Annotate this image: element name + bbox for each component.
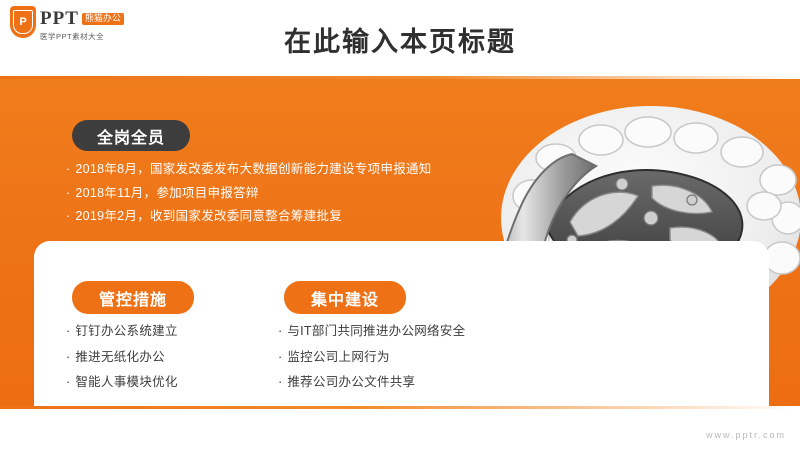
- list-item-text: 钉钉办公系统建立: [75, 324, 177, 340]
- section-badge-guankongcuoshi[interactable]: 管控措施: [72, 281, 194, 314]
- list-item-text: 智能人事模块优化: [75, 375, 177, 391]
- bullet-list-guankongcuoshi: · 钉钉办公系统建立 · 推进无纸化办公 · 智能人事模块优化: [66, 324, 266, 401]
- list-item: · 与IT部门共同推进办公网络安全: [278, 324, 538, 340]
- section-badge-jizhongjianshe[interactable]: 集中建设: [284, 281, 406, 314]
- bullet-marker: ·: [66, 186, 70, 199]
- list-item: · 2018年11月，参加项目申报答辩: [66, 186, 526, 202]
- slide-root: P PPT 熊猫办公 医学PPT素材大全 在此输入本页标题: [0, 0, 800, 450]
- bullet-marker: ·: [278, 350, 282, 363]
- list-item: · 推荐公司办公文件共享: [278, 375, 538, 391]
- bullet-marker: ·: [66, 375, 70, 388]
- footer-divider: [0, 406, 800, 409]
- list-item-text: 推进无纸化办公: [75, 350, 165, 366]
- list-item: · 2019年2月，收到国家发改委同意整合筹建批复: [66, 209, 526, 225]
- list-item-text: 推荐公司办公文件共享: [287, 375, 415, 391]
- bullet-marker: ·: [66, 209, 70, 222]
- list-item: · 监控公司上网行为: [278, 350, 538, 366]
- bullet-list-quangangquanyuan: · 2018年8月，国家发改委发布大数据创新能力建设专项申报通知 · 2018年…: [66, 162, 526, 233]
- footer-url: www.pptr.com: [706, 430, 786, 440]
- list-item: · 推进无纸化办公: [66, 350, 266, 366]
- list-item-text: 2018年11月，参加项目申报答辩: [75, 186, 258, 202]
- section-badge-quangangquanyuan[interactable]: 全岗全员: [72, 120, 190, 151]
- bullet-marker: ·: [66, 162, 70, 175]
- list-item: · 钉钉办公系统建立: [66, 324, 266, 340]
- list-item: · 2018年8月，国家发改委发布大数据创新能力建设专项申报通知: [66, 162, 526, 178]
- bullet-marker: ·: [278, 324, 282, 337]
- list-item-text: 与IT部门共同推进办公网络安全: [287, 324, 465, 340]
- bullet-marker: ·: [66, 350, 70, 363]
- list-item: · 智能人事模块优化: [66, 375, 266, 391]
- list-item-text: 2019年2月，收到国家发改委同意整合筹建批复: [75, 209, 342, 225]
- bullet-marker: ·: [278, 375, 282, 388]
- list-item-text: 监控公司上网行为: [287, 350, 389, 366]
- bullet-marker: ·: [66, 324, 70, 337]
- list-item-text: 2018年8月，国家发改委发布大数据创新能力建设专项申报通知: [75, 162, 431, 178]
- page-title: 在此输入本页标题: [0, 20, 800, 59]
- bullet-list-jizhongjianshe: · 与IT部门共同推进办公网络安全 · 监控公司上网行为 · 推荐公司办公文件共…: [278, 324, 538, 401]
